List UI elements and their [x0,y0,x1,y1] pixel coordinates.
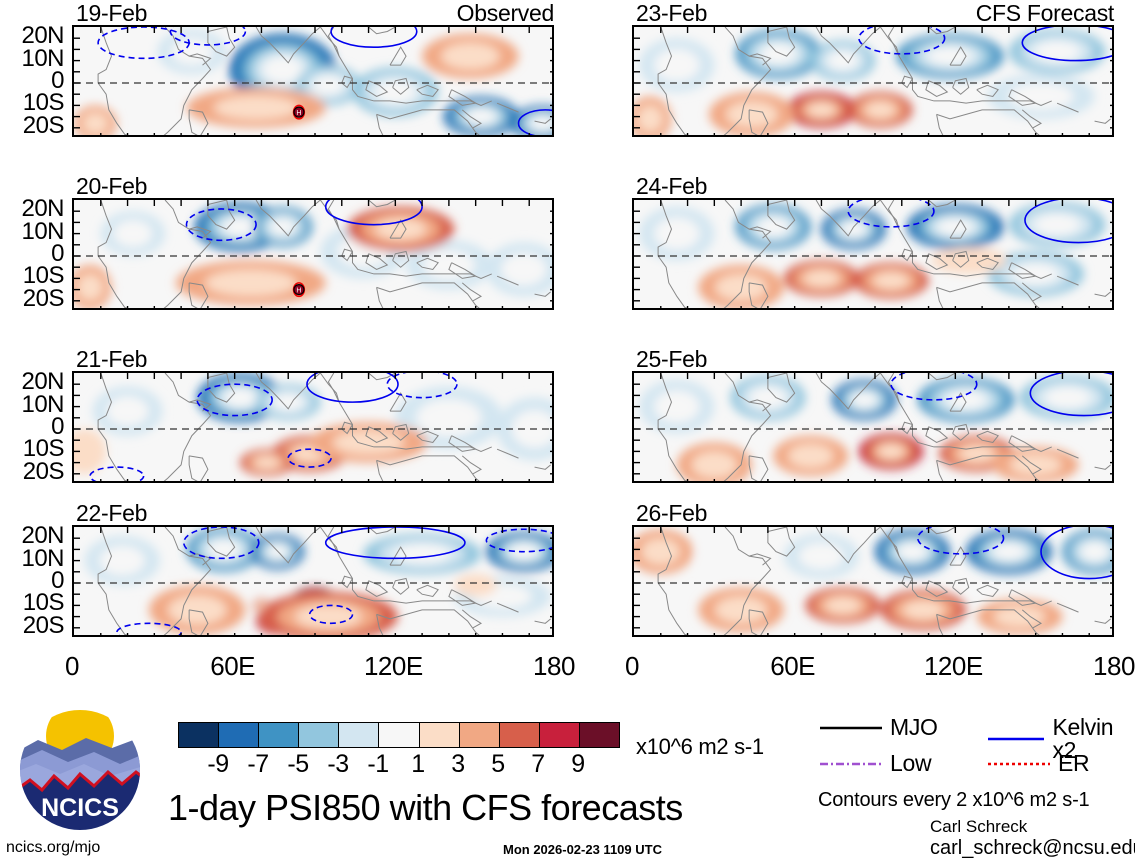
y-axis-tick-label: 20S [0,460,64,484]
legend-line-swatch [988,760,1050,768]
map-panel [632,525,1114,637]
legend-label: Low [890,752,931,775]
panel-date-label: 20-Feb [76,175,147,198]
legend-line-swatch [820,724,882,732]
observed-column-header: Observed [72,2,554,25]
legend-item-low: Low [820,752,931,775]
contour-interval-note: Contours every 2 x10^6 m2 s-1 [818,790,1090,810]
colorbar-segment [499,723,539,747]
x-axis-tick-label: 60E [748,653,838,679]
legend-item-er: ER [988,752,1089,775]
svg-text:H: H [296,110,301,117]
x-axis-tick-label: 120E [908,653,998,679]
y-axis-tick-label: 20S [0,114,64,138]
colorbar-segment [298,723,338,747]
colorbar-segment [338,723,378,747]
legend-item-mjo: MJO [820,716,938,739]
y-axis-tick-label: 20S [0,287,64,311]
x-axis-tick-label: 0 [587,653,677,679]
map-panel: H [72,198,554,310]
map-panel [632,25,1114,137]
x-axis-tick-label: 120E [348,653,438,679]
legend-label: ER [1058,752,1089,775]
legend-line-swatch [820,760,882,768]
colorbar-segment [579,723,619,747]
panel-date-label: 26-Feb [636,502,707,525]
colorbar-segment [179,723,218,747]
y-axis-tick-label: 20S [0,614,64,638]
forecast-column-header: CFS Forecast [632,2,1114,25]
panel-date-label: 21-Feb [76,348,147,371]
colorbar-segment [539,723,579,747]
x-axis-tick-label: 180 [509,653,599,679]
legend-label: MJO [890,716,938,739]
colorbar-segment [378,723,418,747]
map-panel [632,371,1114,483]
colorbar-units-label: x10^6 m2 s-1 [636,736,764,758]
x-axis-tick-label: 180 [1069,653,1135,679]
x-axis-tick-label: 0 [27,653,117,679]
panel-date-label: 24-Feb [636,175,707,198]
colorbar-segment [258,723,298,747]
render-timestamp: Mon 2026-02-23 1109 UTC [503,843,662,856]
colorbar [178,722,620,748]
colorbar-segment [459,723,499,747]
author-name: Carl Schreck [930,818,1027,835]
colorbar-segment [218,723,258,747]
ncics-logo: NCICS [16,706,144,834]
hurricane-symbol: H [294,107,304,117]
legend-line-swatch [988,735,1044,743]
map-panel [72,371,554,483]
author-email: carl_schreck@ncsu.edu [930,838,1135,858]
x-axis-tick-label: 60E [188,653,278,679]
colorbar-tick-label: 9 [548,752,608,777]
svg-text:H: H [296,288,301,295]
map-panel: H [72,25,554,137]
map-panel [632,198,1114,310]
panel-date-label: 25-Feb [636,348,707,371]
map-panel [72,525,554,637]
panel-date-label: 22-Feb [76,502,147,525]
main-title: 1-day PSI850 with CFS forecasts [168,790,683,826]
hurricane-symbol: H [294,285,304,295]
logo-text: NCICS [41,794,119,822]
site-url: ncics.org/mjo [6,840,100,856]
colorbar-segment [419,723,459,747]
